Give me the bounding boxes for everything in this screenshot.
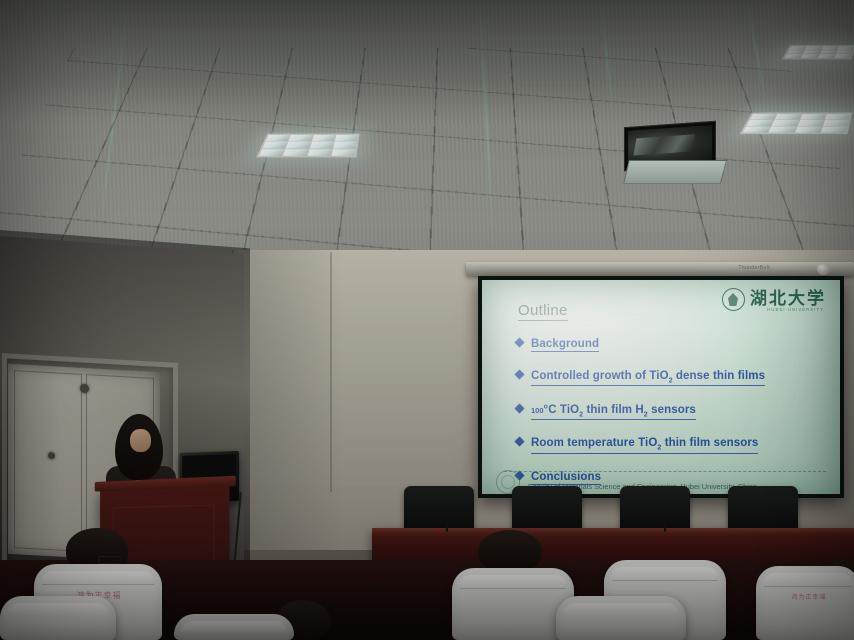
bullet-text: Background <box>531 338 599 352</box>
door-viewer <box>80 384 89 394</box>
ceiling-shading <box>0 0 854 268</box>
seat-embroidery-text: 鸿为正幸福 <box>766 592 852 601</box>
ceiling <box>0 0 854 268</box>
list-item: Controlled growth of TiO2 dense thin fil… <box>516 370 822 386</box>
slide-divider <box>504 471 826 472</box>
panel-chair <box>620 486 690 532</box>
conference-room-photo: ThunderBolt 湖北大学 HUBEI UNIVERSITY Outlin… <box>0 0 854 640</box>
seat-fold <box>612 580 718 581</box>
panel-chair <box>512 486 582 532</box>
university-name-chinese: 湖北大学 <box>750 291 826 308</box>
diamond-bullet-icon <box>515 437 525 447</box>
audience-seat <box>0 596 116 640</box>
eyeglasses <box>98 556 122 564</box>
list-item: Background <box>516 338 822 352</box>
presenter-face <box>130 429 151 452</box>
diamond-bullet-icon <box>515 338 525 348</box>
diamond-bullet-icon <box>515 403 525 413</box>
seat-fold <box>764 586 852 587</box>
projection-screen-frame: 湖北大学 HUBEI UNIVERSITY Outline Background… <box>478 276 844 498</box>
university-name-english: HUBEI UNIVERSITY <box>767 307 824 312</box>
bullet-text: 100°C TiO2 thin film H2 sensors <box>531 404 696 420</box>
door-leaf-left <box>14 370 82 552</box>
university-logo: 湖北大学 HUBEI UNIVERSITY <box>722 288 826 311</box>
university-emblem-icon <box>722 288 745 311</box>
panel-chair <box>404 486 474 532</box>
projected-slide: 湖北大学 HUBEI UNIVERSITY Outline Background… <box>482 280 840 494</box>
screen-roller-cap <box>817 263 830 275</box>
list-item: 100°C TiO2 thin film H2 sensors <box>516 404 822 420</box>
audience-seat <box>556 596 686 640</box>
wall-seam <box>330 252 332 492</box>
screen-brand-label: ThunderBolt <box>738 265 770 271</box>
audience-seat: 鸿为正幸福 <box>756 566 854 640</box>
table-microphone <box>664 520 666 532</box>
projection-screen-housing: ThunderBolt <box>466 262 854 276</box>
audience-seat <box>174 614 294 640</box>
bullet-text: Controlled growth of TiO2 dense thin fil… <box>531 370 765 386</box>
door-knob[interactable] <box>48 452 55 459</box>
panel-chair <box>728 486 798 532</box>
bullet-text: Room temperature TiO2 thin film sensors <box>531 437 758 453</box>
list-item: Room temperature TiO2 thin film sensors <box>516 437 822 453</box>
slide-title: Outline <box>518 302 568 321</box>
audience-head <box>478 530 542 572</box>
table-edge <box>372 528 854 535</box>
table-microphone <box>446 520 448 532</box>
seat-fold <box>42 584 154 585</box>
seat-fold <box>460 588 566 589</box>
diamond-bullet-icon <box>515 369 525 379</box>
